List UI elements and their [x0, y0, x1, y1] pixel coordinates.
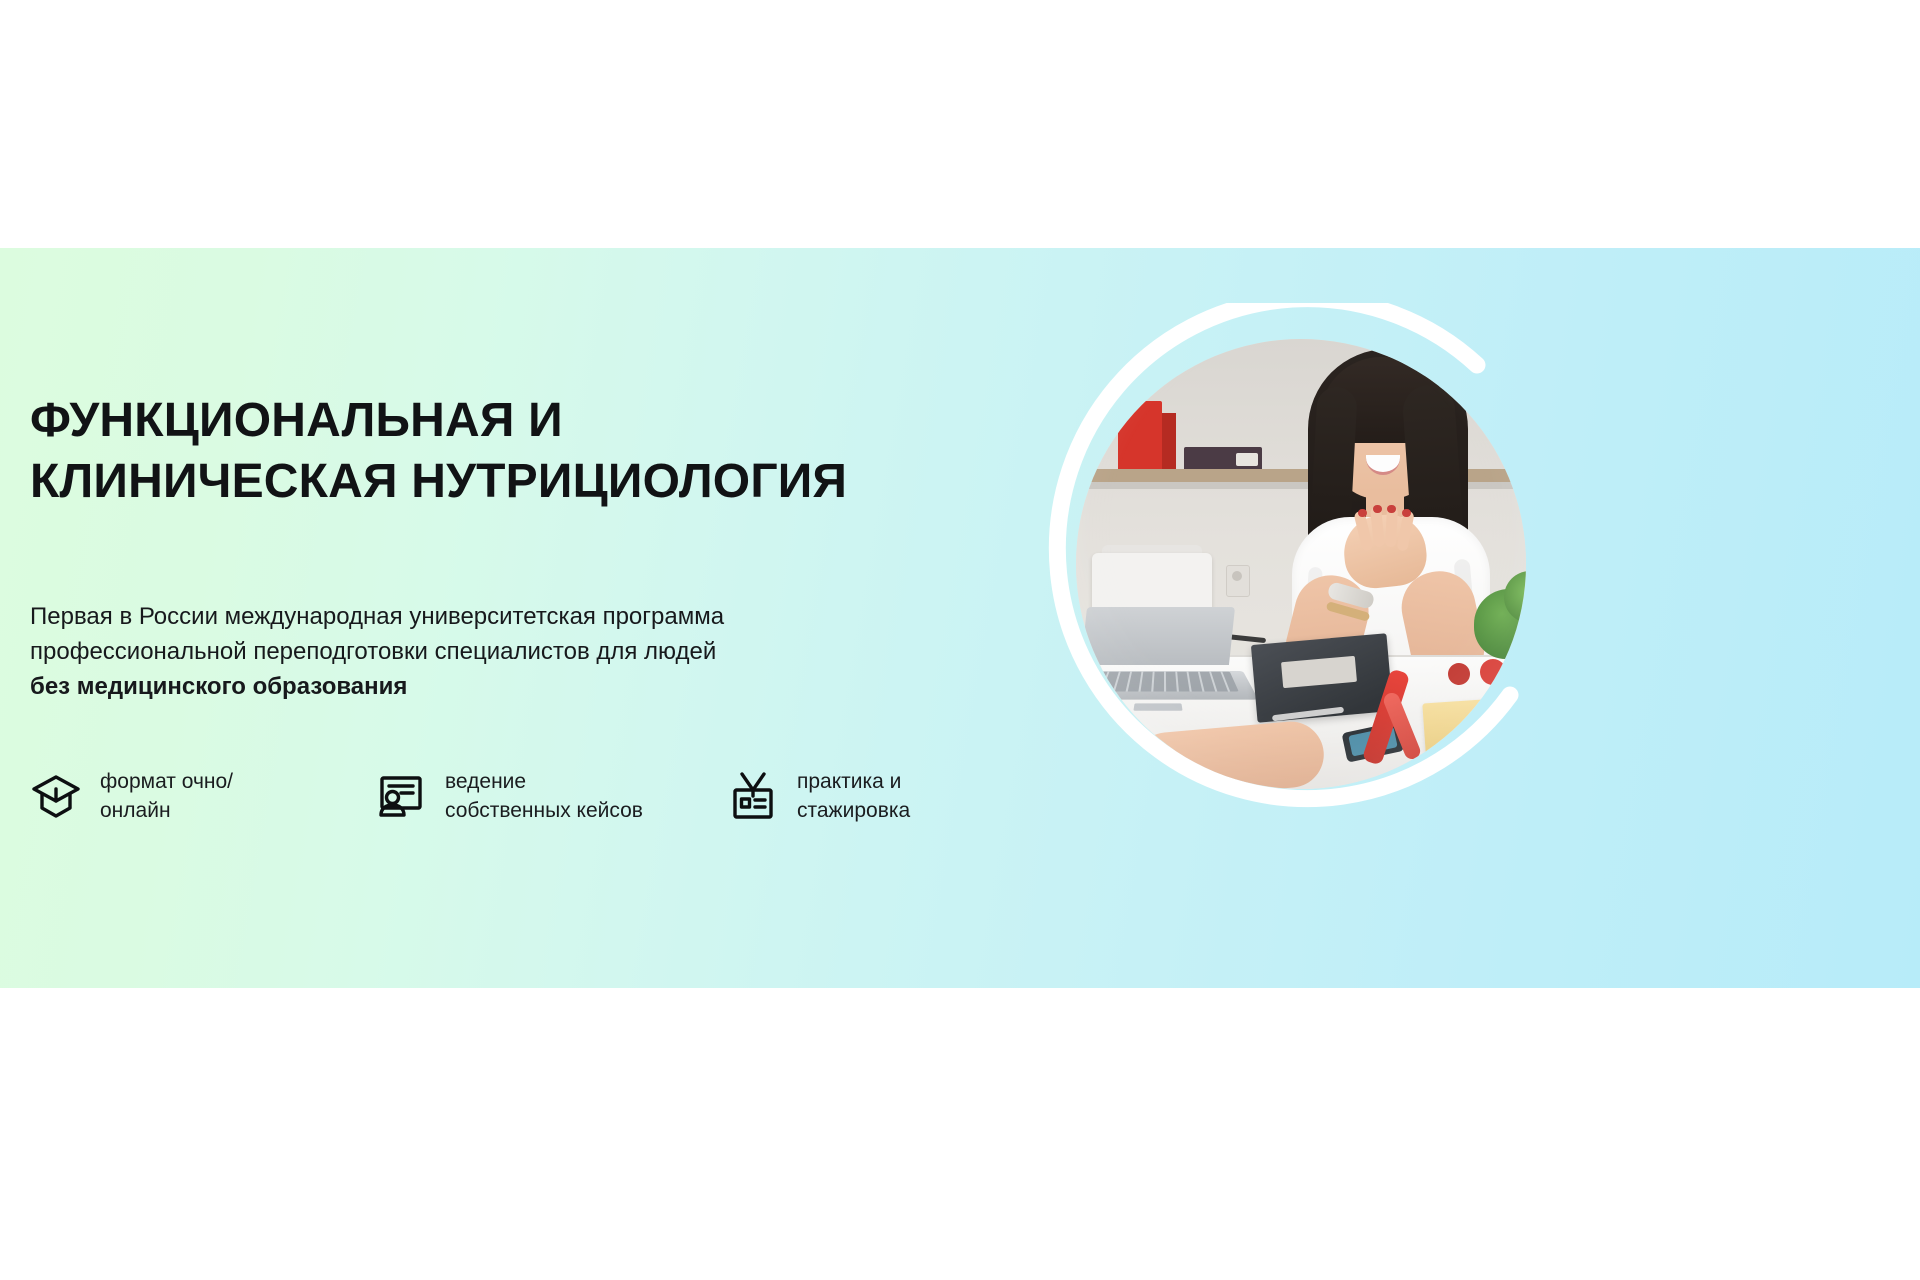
feature-item-internship: практика и стажировка: [727, 766, 987, 826]
page-title: ФУНКЦИОНАЛЬНАЯ И КЛИНИЧЕСКАЯ НУТРИЦИОЛОГ…: [30, 390, 847, 513]
lanyard-badge-icon: [727, 770, 779, 822]
feature-label-format: формат очно/ онлайн: [100, 766, 233, 826]
banner-content: ФУНКЦИОНАЛЬНАЯ И КЛИНИЧЕСКАЯ НУТРИЦИОЛОГ…: [30, 248, 1030, 988]
hero-media: [1040, 303, 1560, 823]
description-line-2: профессиональной переподготовки специали…: [30, 635, 724, 670]
feature-item-cases: ведение собственных кейсов: [375, 766, 727, 826]
feature-list: формат очно/ онлайн ведение собственных …: [30, 766, 990, 826]
description-line-3-emphasis: без медицинского образования: [30, 670, 724, 705]
graduation-cap-icon: [30, 770, 82, 822]
hero-photo: [1076, 339, 1526, 789]
feature-item-format: формат очно/ онлайн: [30, 766, 375, 826]
description-line-1: Первая в России международная университе…: [30, 600, 724, 635]
hero-banner: ФУНКЦИОНАЛЬНАЯ И КЛИНИЧЕСКАЯ НУТРИЦИОЛОГ…: [0, 248, 1920, 988]
feature-label-internship: практика и стажировка: [797, 766, 910, 826]
feature-label-cases: ведение собственных кейсов: [445, 766, 643, 826]
banner-description: Первая в России международная университе…: [30, 600, 724, 704]
id-card-person-icon: [375, 770, 427, 822]
